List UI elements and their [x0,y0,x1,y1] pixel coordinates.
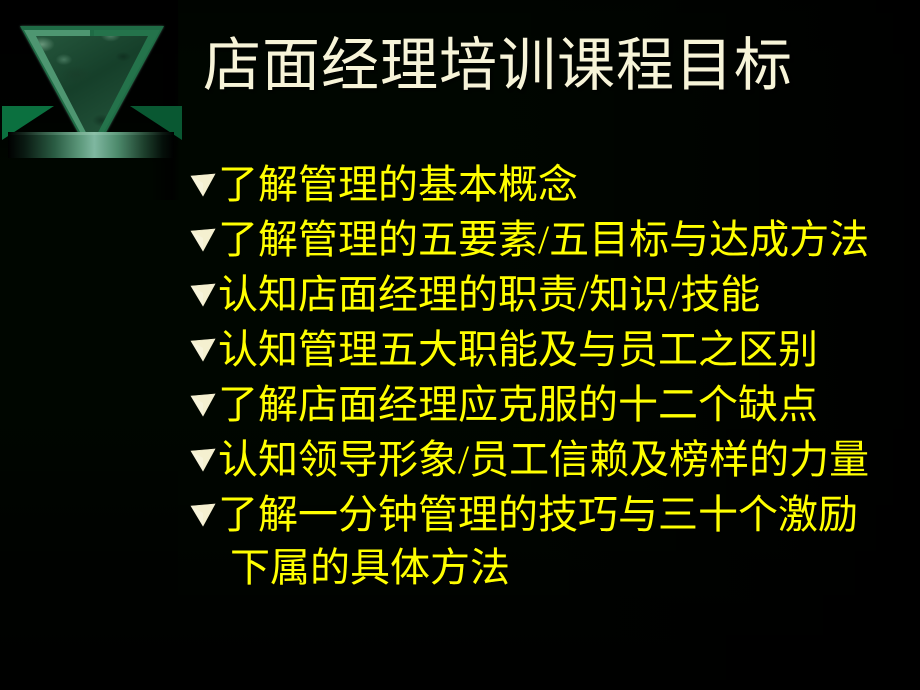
chevron-down-icon [188,158,218,211]
bullet-list: 了解管理的基本概念 了解管理的五要素/五目标与达成方法 认知店面经理的职责/知识… [188,158,914,596]
list-item-label: 认知领导形象/员工信赖及榜样的力量 [218,433,914,486]
emblem-bar-highlight [8,132,174,135]
list-item-label: 了解店面经理应克服的十二个缺点 [218,378,914,431]
slide-title: 店面经理培训课程目标 [203,30,915,102]
chevron-down-icon [188,213,218,266]
list-item[interactable]: 认知管理五大职能及与员工之区别 [188,323,914,376]
list-item[interactable]: 了解店面经理应克服的十二个缺点 [188,378,914,431]
emblem-horizontal-gradient-bar [8,132,174,158]
list-item-line-1: 了解店面经理应克服的十二个缺点 [218,382,818,427]
list-item[interactable]: 了解一分钟管理的技巧与三十个激励 下属的具体方法 [188,488,914,594]
list-item-line-1: 认知店面经理的职责/知识/技能 [218,272,760,317]
list-item-label: 了解一分钟管理的技巧与三十个激励 下属的具体方法 [218,488,914,594]
list-item-line-1: 了解管理的基本概念 [218,162,578,207]
chevron-down-icon [188,378,218,431]
list-item[interactable]: 了解管理的五要素/五目标与达成方法 [188,213,914,266]
chevron-down-icon [188,323,218,376]
list-item-line-1: 认知领导形象/员工信赖及榜样的力量 [218,437,869,482]
triangle-logo-emblem [12,22,172,170]
list-item[interactable]: 认知领导形象/员工信赖及榜样的力量 [188,433,914,486]
chevron-down-icon [188,433,218,486]
list-item-line-1: 认知管理五大职能及与员工之区别 [218,327,818,372]
list-item-label: 认知店面经理的职责/知识/技能 [218,268,914,321]
presentation-slide: 店面经理培训课程目标 了解管理的基本概念 了解管理的五要素/五目标与达成方法 认 [0,0,920,690]
list-item-label: 了解管理的五要素/五目标与达成方法 [218,213,914,266]
list-item-line-2: 下属的具体方法 [218,541,914,594]
list-item[interactable]: 认知店面经理的职责/知识/技能 [188,268,914,321]
chevron-down-icon [188,488,218,541]
list-item-label: 了解管理的基本概念 [218,158,914,211]
list-item-line-1: 了解管理的五要素/五目标与达成方法 [218,217,869,262]
list-item-line-1: 了解一分钟管理的技巧与三十个激励 [218,492,858,537]
list-item-label: 认知管理五大职能及与员工之区别 [218,323,914,376]
list-item[interactable]: 了解管理的基本概念 [188,158,914,211]
chevron-down-icon [188,268,218,321]
